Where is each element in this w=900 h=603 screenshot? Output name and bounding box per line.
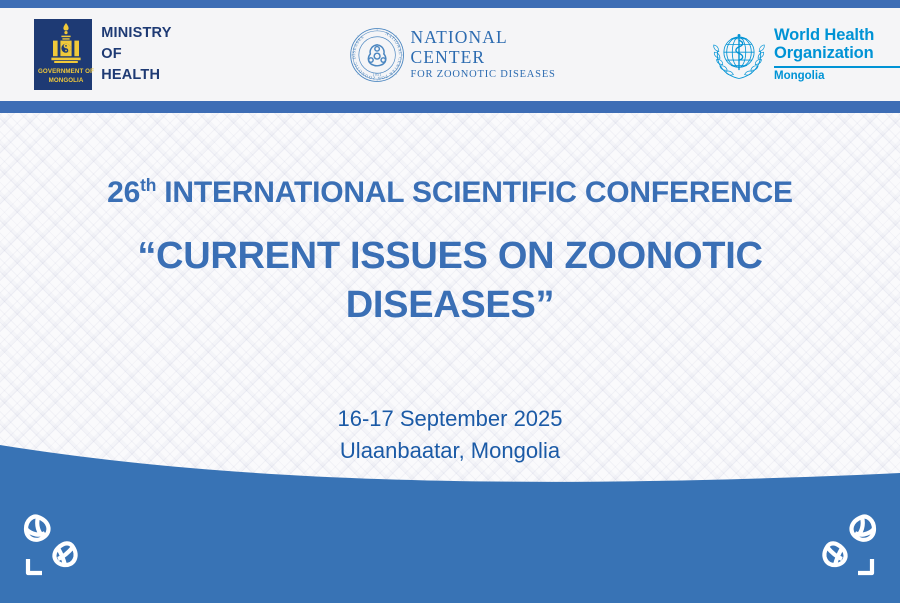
conference-heading-text: INTERNATIONAL SCIENTIFIC CONFERENCE [156,176,793,209]
header-bottom-rule [0,101,900,113]
ulzii-knot-ornament-right [806,509,884,581]
crest-caption-line2: MONGOLIA [34,77,98,86]
conference-number: 26 [107,176,140,209]
bottom-wave-decoration [0,443,900,603]
ulzii-knot-ornament-left [16,509,94,581]
ministry-name-line2: OF HEALTH [101,44,177,86]
conference-number-heading: 26th INTERNATIONAL SCIENTIFIC CONFERENCE [0,175,900,210]
logo-row: GOVERNMENT OF MONGOLIA MINISTRY OF HEALT… [0,8,900,101]
conference-ordinal: th [140,175,156,195]
who-divider [774,66,900,68]
who-country-label: Mongolia [774,70,900,82]
conference-title-slide: GOVERNMENT OF MONGOLIA MINISTRY OF HEALT… [0,0,900,603]
ministry-of-health-name: MINISTRY OF HEALTH [101,23,177,86]
svg-text:1951: 1951 [373,72,383,76]
who-wordmark: World Health Organization Mongolia [774,27,900,81]
crest-caption-line1: GOVERNMENT OF [34,68,98,77]
event-dates: 16-17 September 2025 [0,403,900,435]
mongolia-state-emblem-icon: GOVERNMENT OF MONGOLIA [34,19,92,90]
who-name-line1: World Health [774,27,900,45]
national-center-name-line1: NATIONAL CENTER [411,28,561,67]
soyombo-icon [34,22,98,66]
who-name-line2: Organization [774,45,900,63]
national-center-name-line2: FOR ZOONOTIC DISEASES [411,69,561,81]
top-accent-rule [0,0,900,8]
zoonotic-seal-icon: NATIONAL CENTER FOR ZOONOTIC DISEASES 19… [349,22,405,88]
national-center-logo: NATIONAL CENTER FOR ZOONOTIC DISEASES 19… [349,22,561,88]
conference-theme-title: “CURRENT ISSUES ON ZOONOTIC DISEASES” [0,232,900,331]
crest-caption: GOVERNMENT OF MONGOLIA [34,68,98,86]
ministry-of-health-logo: GOVERNMENT OF MONGOLIA MINISTRY OF HEALT… [34,19,177,90]
who-logo: World Health Organization Mongolia [711,27,900,83]
who-emblem-icon [711,27,767,83]
wave-blue-layer [0,445,900,603]
ministry-name-line1: MINISTRY [101,23,177,44]
national-center-name: NATIONAL CENTER FOR ZOONOTIC DISEASES [411,28,561,80]
